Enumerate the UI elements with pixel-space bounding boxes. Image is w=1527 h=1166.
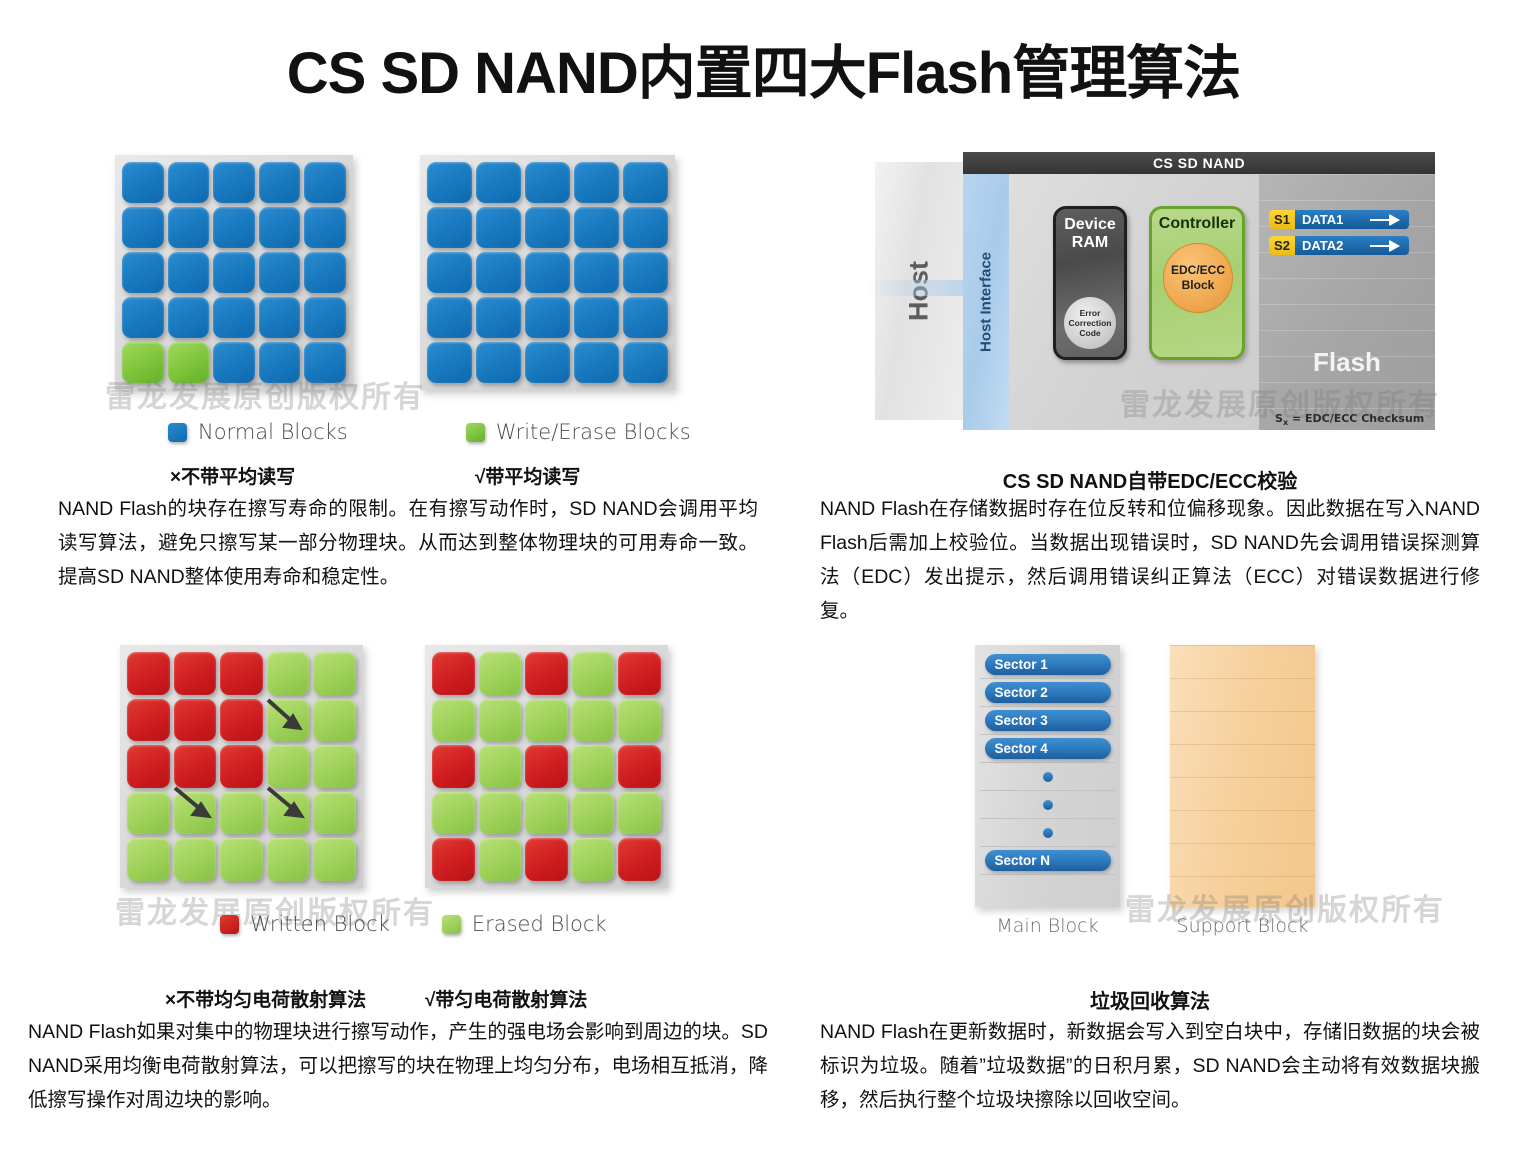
block-cell-blue — [122, 252, 164, 293]
block-cell-red — [174, 652, 217, 695]
legend-label: Erased Block — [472, 912, 607, 936]
body-edc-ecc: NAND Flash在存储数据时存在位反转和位偏移现象。因此数据在写入NAND … — [820, 492, 1480, 628]
block-cell-red — [525, 652, 568, 695]
block-cell-blue — [259, 252, 301, 293]
legend-item-written-block: Written Block — [220, 912, 390, 936]
sector-row: Sector 1 — [980, 651, 1115, 679]
sector-ellipsis-dot — [980, 791, 1115, 819]
block-cell-lgreen — [618, 699, 661, 742]
block-cell-lgreen — [174, 792, 217, 835]
block-cell-blue — [476, 252, 521, 293]
legend-label: Written Block — [250, 912, 390, 936]
block-cell-red — [525, 745, 568, 788]
ecc-ellipse-line2: Correction — [1069, 318, 1112, 328]
block-cell-lgreen — [267, 652, 310, 695]
block-cell-blue — [427, 162, 472, 203]
block-cell-green — [168, 342, 210, 383]
main-block: Sector 1Sector 2Sector 3Sector 4Sector N — [975, 645, 1120, 907]
sector-label: Sector N — [985, 850, 1111, 871]
block-cell-lgreen — [479, 745, 522, 788]
page-title: CS SD NAND内置四大Flash管理算法 — [0, 26, 1527, 110]
flash-label: Flash — [1259, 347, 1435, 378]
block-cell-red — [174, 745, 217, 788]
support-block — [1170, 645, 1315, 907]
block-cell-blue — [574, 342, 619, 383]
arch-internal-area: Device RAM Error Correction Code Control… — [1009, 174, 1259, 430]
block-cell-green — [122, 342, 164, 383]
grid-wear-without — [115, 155, 353, 390]
data-row-s1: S1 DATA1 — [1269, 210, 1409, 229]
block-cell-blue — [427, 297, 472, 338]
block-cell-blue — [168, 297, 210, 338]
heading-edc-ecc: CS SD NAND自带EDC/ECC校验 — [800, 465, 1500, 494]
block-cell-lgreen — [174, 838, 217, 881]
block-cell-blue — [525, 252, 570, 293]
dot-icon — [1043, 772, 1053, 782]
legend-item-erased-block: Erased Block — [442, 912, 607, 936]
block-cell-blue — [168, 207, 210, 248]
poster-root: CS SD NAND内置四大Flash管理算法 雷龙发展原创版权所有 Norma… — [0, 0, 1527, 1166]
block-cell-blue — [525, 297, 570, 338]
arch-header-label: CS SD NAND — [963, 152, 1435, 174]
dot-icon — [1043, 800, 1053, 810]
checksum-note: Sx = EDC/ECC Checksum — [1275, 412, 1424, 427]
block-cell-blue — [213, 342, 255, 383]
block-cell-lgreen — [313, 699, 356, 742]
block-cell-blue — [213, 297, 255, 338]
data-flow-arrow-icon — [1370, 240, 1404, 251]
data-flow-arrow-icon — [1370, 214, 1404, 225]
block-cell-blue — [525, 342, 570, 383]
block-cell-blue — [304, 297, 346, 338]
block-cell-red — [127, 699, 170, 742]
block-cell-blue — [168, 252, 210, 293]
block-cell-blue — [476, 162, 521, 203]
sector-label: Sector 1 — [985, 654, 1111, 675]
block-cell-lgreen — [479, 652, 522, 695]
block-cell-blue — [574, 207, 619, 248]
device-ram-label: Device RAM — [1056, 216, 1124, 252]
block-cell-red — [432, 745, 475, 788]
block-cell-blue — [623, 252, 668, 293]
block-cell-blue — [623, 207, 668, 248]
block-cell-blue — [122, 162, 164, 203]
main-block-label: Main Block — [975, 915, 1120, 937]
block-cell-lgreen — [267, 699, 310, 742]
block-cell-blue — [259, 297, 301, 338]
block-cell-blue — [525, 162, 570, 203]
block-cell-blue — [574, 252, 619, 293]
block-cell-blue — [213, 162, 255, 203]
block-cell-blue — [168, 162, 210, 203]
arch-host-interface-block: Host Interface — [963, 174, 1009, 430]
checksum-tag-s1: S1 — [1269, 210, 1295, 229]
block-cell-lgreen — [479, 699, 522, 742]
block-cell-blue — [623, 342, 668, 383]
block-cell-lgreen — [479, 838, 522, 881]
block-cell-red — [432, 652, 475, 695]
sector-row: Sector 4 — [980, 735, 1115, 763]
heading-garbage-collection: 垃圾回收算法 — [800, 985, 1500, 1014]
block-cell-blue — [259, 342, 301, 383]
block-cell-blue — [574, 297, 619, 338]
arch-host-interface-label: Host Interface — [978, 252, 995, 352]
block-cell-lgreen — [127, 838, 170, 881]
controller-label: Controller — [1152, 215, 1242, 233]
checksum-tag-s2: S2 — [1269, 236, 1295, 255]
block-cell-blue — [304, 342, 346, 383]
block-cell-lgreen — [618, 792, 661, 835]
block-cell-blue — [476, 342, 521, 383]
block-cell-blue — [476, 297, 521, 338]
caption-with-charge-spreading: √带匀电荷散射算法 — [425, 985, 587, 1012]
block-cell-lgreen — [220, 838, 263, 881]
legend-item-write-erase-blocks: Write/Erase Blocks — [466, 420, 691, 444]
block-cell-blue — [427, 252, 472, 293]
block-cell-red — [220, 745, 263, 788]
dot-icon — [1043, 828, 1053, 838]
block-cell-red — [525, 838, 568, 881]
ecc-ellipse-line1: Error — [1080, 308, 1101, 318]
body-charge-spreading: NAND Flash如果对集中的物理块进行擦写动作，产生的强电场会影响到周边的块… — [28, 1015, 768, 1117]
legend-charge-spreading: Written Block Erased Block — [220, 912, 607, 936]
block-cell-blue — [623, 297, 668, 338]
data-label-text: DATA2 — [1302, 238, 1343, 253]
block-cell-blue — [525, 207, 570, 248]
section-wear-leveling: 雷龙发展原创版权所有 Normal Blocks Write/Erase Blo… — [30, 140, 760, 590]
grid-charge-with — [425, 645, 668, 888]
block-cell-lgreen — [127, 792, 170, 835]
body-wear-leveling: NAND Flash的块存在擦写寿命的限制。在有擦写动作时，SD NAND会调用… — [58, 492, 758, 594]
block-cell-blue — [213, 252, 255, 293]
block-cell-lgreen — [479, 792, 522, 835]
block-cell-lgreen — [572, 745, 615, 788]
checksum-note-prefix: S — [1275, 412, 1283, 425]
caption-without-wear-leveling: ×不带平均读写 — [170, 462, 295, 489]
block-cell-blue — [213, 207, 255, 248]
block-cell-blue — [304, 207, 346, 248]
block-cell-lgreen — [525, 792, 568, 835]
legend-swatch-green-icon — [466, 423, 485, 442]
support-block-label: Support Block — [1170, 915, 1315, 937]
checksum-note-rest: = EDC/ECC Checksum — [1288, 412, 1424, 425]
sector-label: Sector 4 — [985, 738, 1111, 759]
flash-area: S1 DATA1 S2 DATA2 — [1259, 174, 1435, 430]
sector-row: Sector 2 — [980, 679, 1115, 707]
sector-row: Sector N — [980, 847, 1115, 875]
block-cell-red — [618, 745, 661, 788]
section-charge-spreading: 雷龙发展原创版权所有 Written Block Erased Block ×不… — [20, 630, 780, 1110]
block-cell-red — [174, 699, 217, 742]
block-cell-red — [432, 838, 475, 881]
device-ram-block: Device RAM Error Correction Code — [1053, 206, 1127, 360]
sector-label: Sector 3 — [985, 710, 1111, 731]
data-label-data1: DATA1 — [1295, 210, 1409, 229]
legend-wear-leveling: Normal Blocks Write/Erase Blocks — [168, 420, 691, 444]
block-cell-red — [618, 652, 661, 695]
block-cell-lgreen — [572, 699, 615, 742]
diagram-garbage-collection: Sector 1Sector 2Sector 3Sector 4Sector N… — [975, 645, 1320, 945]
block-cell-blue — [122, 207, 164, 248]
legend-swatch-blue-icon — [168, 423, 187, 442]
block-cell-lgreen — [313, 652, 356, 695]
ecc-ellipse-line3: Code — [1079, 328, 1100, 338]
block-cell-lgreen — [313, 792, 356, 835]
block-cell-blue — [259, 162, 301, 203]
block-cell-lgreen — [572, 838, 615, 881]
block-cell-lgreen — [267, 745, 310, 788]
body-garbage-collection: NAND Flash在更新数据时，新数据会写入到空白块中，存储旧数据的块会被标识… — [820, 1015, 1480, 1117]
caption-without-charge-spreading: ×不带均匀电荷散射算法 — [165, 985, 366, 1012]
data-label-text: DATA1 — [1302, 212, 1343, 227]
block-cell-lgreen — [220, 792, 263, 835]
block-cell-blue — [427, 207, 472, 248]
block-cell-blue — [574, 162, 619, 203]
diagram-cs-sd-nand-architecture: Host CS SD NAND Host Interface Device RA… — [875, 152, 1435, 437]
block-cell-blue — [623, 162, 668, 203]
error-correction-code-ellipse: Error Correction Code — [1064, 297, 1116, 349]
block-cell-blue — [259, 207, 301, 248]
sector-row: Sector 3 — [980, 707, 1115, 735]
block-cell-red — [220, 652, 263, 695]
grid-charge-without — [120, 645, 363, 888]
legend-label: Write/Erase Blocks — [496, 420, 691, 444]
block-cell-red — [220, 699, 263, 742]
edc-ecc-line2: Block — [1182, 278, 1215, 292]
data-label-data2: DATA2 — [1295, 236, 1409, 255]
sector-ellipsis-dot — [980, 819, 1115, 847]
block-cell-lgreen — [572, 792, 615, 835]
data-row-s2: S2 DATA2 — [1269, 236, 1409, 255]
legend-swatch-red-icon — [220, 915, 239, 934]
block-cell-blue — [304, 252, 346, 293]
legend-item-normal-blocks: Normal Blocks — [168, 420, 348, 444]
host-link-arrow-icon — [867, 280, 977, 296]
controller-block: Controller EDC/ECC Block — [1149, 206, 1245, 360]
legend-swatch-lgreen-icon — [442, 915, 461, 934]
sector-ellipsis-dot — [980, 763, 1115, 791]
block-cell-lgreen — [313, 838, 356, 881]
block-cell-lgreen — [267, 792, 310, 835]
block-cell-lgreen — [432, 792, 475, 835]
block-cell-blue — [427, 342, 472, 383]
block-cell-red — [127, 652, 170, 695]
grid-wear-with — [420, 155, 675, 390]
device-ram-label-line1: Device — [1064, 216, 1116, 233]
sector-label: Sector 2 — [985, 682, 1111, 703]
block-cell-lgreen — [572, 652, 615, 695]
block-cell-lgreen — [432, 699, 475, 742]
caption-with-wear-leveling: √带平均读写 — [475, 462, 580, 489]
edc-ecc-line1: EDC/ECC — [1171, 263, 1225, 277]
block-cell-blue — [122, 297, 164, 338]
block-cell-blue — [304, 162, 346, 203]
arch-device-body: CS SD NAND Host Interface Device RAM Err… — [963, 152, 1435, 430]
block-cell-red — [127, 745, 170, 788]
edc-ecc-block-circle: EDC/ECC Block — [1163, 243, 1233, 313]
block-cell-red — [618, 838, 661, 881]
legend-label: Normal Blocks — [198, 420, 348, 444]
device-ram-label-line2: RAM — [1072, 234, 1108, 251]
block-cell-blue — [476, 207, 521, 248]
block-cell-lgreen — [267, 838, 310, 881]
block-cell-lgreen — [525, 699, 568, 742]
block-cell-lgreen — [313, 745, 356, 788]
